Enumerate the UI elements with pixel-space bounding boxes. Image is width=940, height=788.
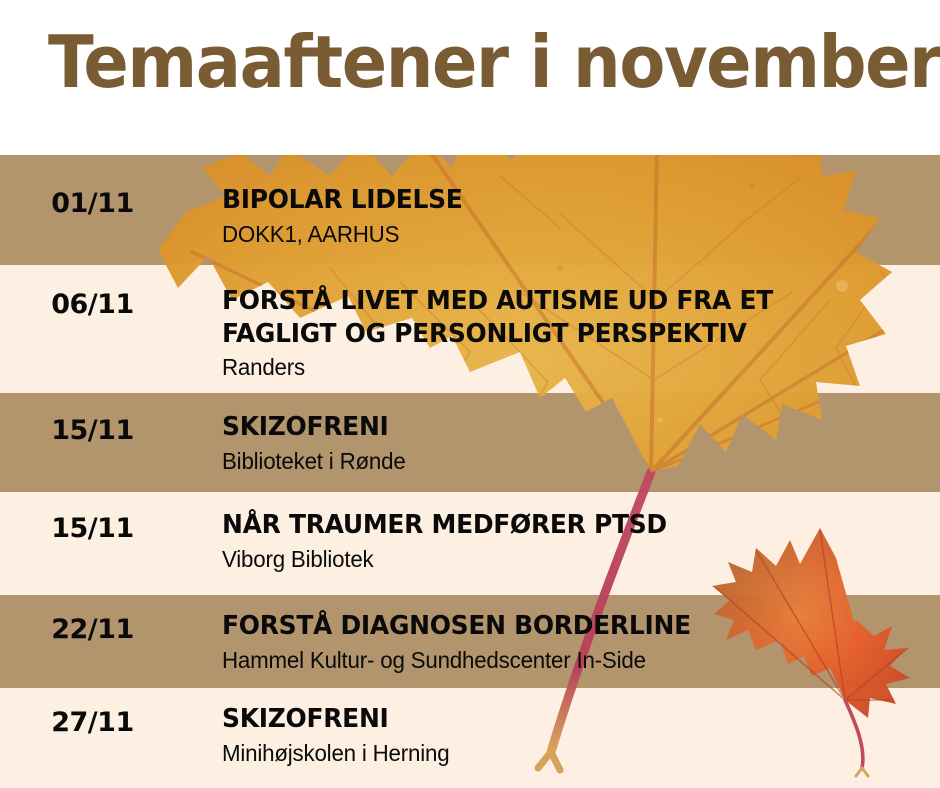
poster-header: Temaaftener i november (0, 0, 940, 155)
event-row[interactable]: 22/11 FORSTÅ DIAGNOSEN BORDERLINE Hammel… (0, 595, 940, 688)
event-row[interactable]: 15/11 NÅR TRAUMER MEDFØRER PTSD Viborg B… (0, 492, 940, 595)
event-title: BIPOLAR LIDELSE (222, 184, 894, 217)
event-detail: NÅR TRAUMER MEDFØRER PTSD Viborg Bibliot… (222, 509, 922, 574)
event-detail: FORSTÅ DIAGNOSEN BORDERLINE Hammel Kultu… (222, 610, 922, 675)
event-venue: Hammel Kultur- og Sundhedscenter In-Side (222, 646, 901, 676)
event-venue: Minihøjskolen i Herning (222, 739, 901, 769)
event-date: 27/11 (0, 707, 185, 738)
event-row[interactable]: 27/11 SKIZOFRENI Minihøjskolen i Herning (0, 688, 940, 788)
event-venue: Viborg Bibliotek (222, 545, 901, 575)
event-date: 22/11 (0, 614, 185, 645)
event-venue: Randers (222, 353, 901, 383)
event-title: SKIZOFRENI (222, 703, 894, 736)
poster-canvas: Temaaftener i november 01/11 BIPOLAR LID… (0, 0, 940, 788)
event-title: SKIZOFRENI (222, 411, 894, 444)
event-title: NÅR TRAUMER MEDFØRER PTSD (222, 509, 894, 542)
event-detail: SKIZOFRENI Biblioteket i Rønde (222, 411, 922, 476)
event-detail: FORSTÅ LIVET MED AUTISME UD FRA ET FAGLI… (222, 285, 922, 383)
event-date: 01/11 (0, 188, 185, 219)
event-venue: Biblioteket i Rønde (222, 447, 901, 477)
event-row[interactable]: 15/11 SKIZOFRENI Biblioteket i Rønde (0, 393, 940, 492)
event-row[interactable]: 06/11 FORSTÅ LIVET MED AUTISME UD FRA ET… (0, 265, 940, 393)
event-detail: BIPOLAR LIDELSE DOKK1, AARHUS (222, 184, 922, 249)
event-venue: DOKK1, AARHUS (222, 220, 901, 250)
event-title: FORSTÅ LIVET MED AUTISME UD FRA ET FAGLI… (222, 285, 894, 350)
event-title: FORSTÅ DIAGNOSEN BORDERLINE (222, 610, 894, 643)
event-date: 06/11 (0, 289, 185, 320)
event-date: 15/11 (0, 513, 185, 544)
event-row[interactable]: 01/11 BIPOLAR LIDELSE DOKK1, AARHUS (0, 155, 940, 265)
event-date: 15/11 (0, 415, 185, 446)
event-detail: SKIZOFRENI Minihøjskolen i Herning (222, 703, 922, 768)
page-title: Temaaftener i november (48, 26, 940, 98)
